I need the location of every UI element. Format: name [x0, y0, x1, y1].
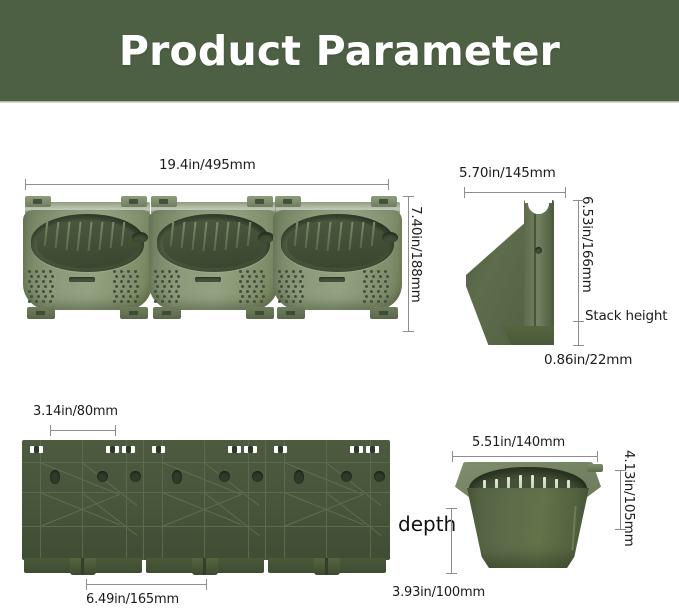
- back-panel-drain-nub: [314, 558, 340, 575]
- mounting-tab-right: [247, 196, 273, 207]
- front-view-height-tick-top: [403, 196, 414, 197]
- front-view-width-tick-left: [25, 179, 26, 190]
- back-panel-keyhole: [294, 470, 304, 484]
- back-view-module-tick-left: [86, 579, 87, 590]
- back-view-module-width-line: [86, 584, 207, 585]
- back-panel-slot-shadow: [248, 446, 253, 453]
- stack-height-line: [578, 321, 579, 346]
- back-view-segment-width-line: [50, 430, 116, 431]
- back-panel-feet-row: [22, 558, 390, 575]
- back-segment-3: [266, 440, 388, 560]
- mounting-tab-left: [151, 196, 177, 207]
- back-panel-body: [22, 440, 390, 560]
- mounting-tab-left: [275, 196, 301, 207]
- pocket-inner-ribs: [169, 222, 259, 252]
- stack-height-tick-bottom: [573, 345, 584, 346]
- back-rib-vertical: [284, 440, 285, 560]
- back-view-module-tick-right: [206, 579, 207, 590]
- front-view-height-label: 7.40in/188mm: [408, 206, 424, 303]
- side-view-height-tick-top: [573, 200, 584, 201]
- back-rib-diagonal: [162, 494, 242, 527]
- back-panel-keyhole: [219, 471, 230, 482]
- pocket-vent-holes-left: [154, 270, 184, 306]
- back-panel-keyhole: [374, 471, 385, 482]
- side-view-width-tick-left: [464, 187, 465, 198]
- pot-height-line: [620, 470, 621, 530]
- back-rib-vertical: [82, 440, 83, 560]
- page-title: Product Parameter: [119, 27, 560, 75]
- side-view-width-label: 5.70in/145mm: [459, 165, 556, 181]
- side-view-width-tick-right: [565, 187, 566, 198]
- pocket-vent-holes-right: [113, 270, 143, 306]
- back-panel-slot-shadow: [232, 446, 237, 453]
- mounting-tab-right: [371, 196, 397, 207]
- back-rib-vertical: [40, 440, 41, 560]
- back-segment-2: [144, 440, 266, 560]
- pot-depth-tick-bottom: [446, 573, 457, 574]
- back-rib-vertical: [162, 440, 163, 560]
- front-view-height-line: [408, 196, 409, 332]
- pocket-body: [273, 210, 402, 310]
- pocket-vent-holes-right: [239, 270, 269, 306]
- back-panel-slot-shadow: [34, 446, 39, 453]
- pot-height-label: 4.13in/105mm: [621, 450, 637, 547]
- pot-top-width-line: [452, 456, 598, 457]
- back-rib-vertical: [326, 440, 327, 560]
- pocket-vent-holes-right: [363, 270, 393, 306]
- pot-depth-line: [451, 508, 452, 574]
- back-panel-slot-shadow: [126, 446, 131, 453]
- back-panel-keyhole: [50, 470, 60, 484]
- header-bottom-edge: [0, 101, 679, 103]
- stack-height-label: Stack height: [585, 308, 667, 324]
- pocket-foot-left: [277, 307, 305, 319]
- side-view-height-label: 6.53in/166mm: [579, 196, 595, 293]
- back-panel-drain-nub: [70, 558, 96, 575]
- pot-height-tick-top: [615, 470, 626, 471]
- back-panel-slot-shadow: [156, 446, 161, 453]
- back-panel-slot-shadow: [278, 446, 283, 453]
- side-view-height-line: [578, 200, 579, 322]
- back-panel-slot-shadow: [354, 446, 359, 453]
- front-view-width-line: [25, 184, 389, 185]
- back-panel-drain-nub: [192, 558, 218, 575]
- front-view-width-tick-right: [388, 179, 389, 190]
- planter-back-panel: [22, 440, 390, 575]
- pocket-front-slot: [319, 277, 345, 282]
- pocket-body: [149, 210, 278, 310]
- back-view-depth-label: depth: [398, 512, 456, 536]
- wall-bracket-side-profile: [466, 200, 562, 345]
- stack-height-value-label: 0.86in/22mm: [544, 352, 632, 368]
- back-rib-vertical: [126, 440, 127, 560]
- three-pocket-planter-front-view: [23, 196, 400, 333]
- back-view-module-width-label: 6.49in/165mm: [86, 592, 179, 607]
- pot-height-tick-bottom: [615, 529, 626, 530]
- pocket-front-slot: [69, 277, 95, 282]
- front-view-width-label: 19.4in/495mm: [159, 157, 256, 173]
- pot-body: [467, 488, 589, 568]
- pot-top-width-tick-left: [452, 451, 453, 462]
- back-rib-vertical: [204, 440, 205, 560]
- pocket-vent-holes-left: [278, 270, 308, 306]
- pocket-front-slot: [195, 277, 221, 282]
- back-view-segment-width-label: 3.14in/80mm: [33, 404, 118, 419]
- page-header: Product Parameter: [0, 0, 679, 101]
- back-segment-1: [22, 440, 144, 560]
- back-view-segment-tick-right: [115, 425, 116, 436]
- pocket-vent-holes-left: [28, 270, 58, 306]
- planter-pocket-1: [23, 196, 152, 333]
- pocket-body: [23, 210, 152, 310]
- pocket-foot-right: [370, 307, 398, 319]
- pocket-foot-right: [246, 307, 274, 319]
- pot-bottom-width-label: 3.93in/100mm: [392, 585, 485, 600]
- pocket-drain-notch: [258, 232, 274, 243]
- bracket-screw-hole-icon: [535, 247, 542, 254]
- bracket-wedge: [466, 200, 562, 345]
- back-rib-vertical: [370, 440, 371, 560]
- back-panel-keyhole: [172, 470, 182, 484]
- single-pot-detail: [455, 462, 601, 568]
- back-panel-slot-shadow: [110, 446, 115, 453]
- back-rib-diagonal: [40, 494, 120, 527]
- back-rib-diagonal: [284, 494, 364, 527]
- pot-side-tab: [587, 464, 603, 472]
- pocket-foot-left: [27, 307, 55, 319]
- mounting-tab-left: [25, 196, 51, 207]
- pocket-foot-right: [120, 307, 148, 319]
- back-panel-slot-shadow: [370, 446, 375, 453]
- side-view-width-line: [464, 192, 566, 193]
- pot-depth-tick-top: [446, 508, 457, 509]
- back-panel-keyhole: [130, 471, 141, 482]
- front-view-height-tick-bottom: [403, 331, 414, 332]
- pocket-inner-ribs: [43, 222, 133, 252]
- back-panel-keyhole: [97, 471, 108, 482]
- pocket-inner-ribs: [293, 222, 383, 252]
- bracket-back-spine: [524, 200, 554, 345]
- planter-pocket-2: [149, 196, 278, 333]
- back-panel-keyhole: [341, 471, 352, 482]
- pocket-drain-notch: [132, 232, 148, 243]
- pot-top-width-label: 5.51in/140mm: [472, 435, 565, 450]
- planter-pocket-3: [273, 196, 402, 333]
- back-rib-vertical: [248, 440, 249, 560]
- mounting-tab-right: [121, 196, 147, 207]
- back-view-segment-tick-left: [50, 425, 51, 436]
- pot-top-width-tick-right: [597, 451, 598, 462]
- back-panel-keyhole: [252, 471, 263, 482]
- pocket-drain-notch: [382, 232, 398, 243]
- pocket-foot-left: [153, 307, 181, 319]
